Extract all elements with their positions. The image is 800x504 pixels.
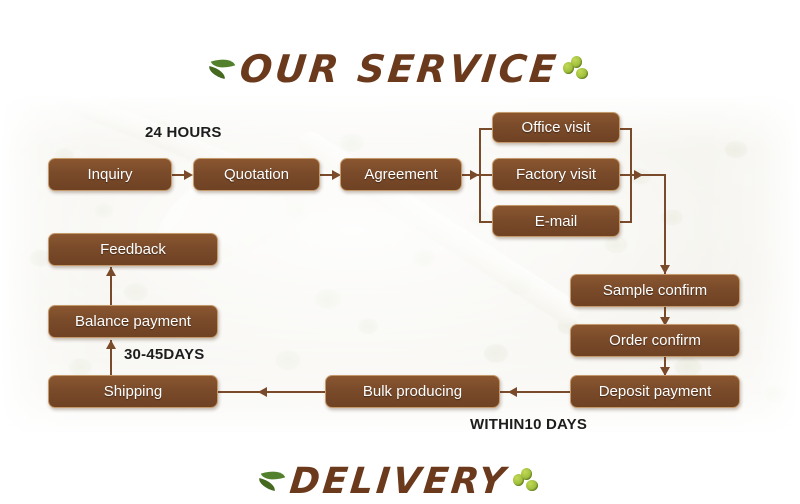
connector-branch-email — [479, 221, 493, 223]
flow-node-label: Shipping — [104, 383, 162, 400]
arrowhead-balance-payment — [106, 340, 116, 349]
leaf-icon — [204, 56, 238, 82]
connector-branch-office — [479, 128, 493, 130]
arrowhead-shipping — [258, 387, 267, 397]
flow-node-feedback[interactable]: Feedback — [48, 233, 218, 266]
flow-node-label: Factory visit — [516, 166, 596, 183]
flow-node-agreement[interactable]: Agreement — [340, 158, 462, 191]
caption-24-hours: 24 HOURS — [145, 124, 222, 141]
flow-node-sample-confirm[interactable]: Sample confirm — [570, 274, 740, 307]
page-title-text: DELIVERY — [288, 461, 510, 502]
flow-node-label: Feedback — [100, 241, 166, 258]
page-title-text: OUR SERVICE — [237, 47, 560, 91]
green-beans-icon — [562, 56, 596, 82]
connector-bulk-shipping — [218, 391, 325, 393]
flow-node-label: Balance payment — [75, 313, 191, 330]
arrowhead-agreement-branch — [470, 170, 479, 180]
flow-node-label: E-mail — [535, 213, 578, 230]
flow-node-balance-payment[interactable]: Balance payment — [48, 305, 218, 338]
arrowhead-merge — [634, 170, 643, 180]
flow-node-label: Agreement — [364, 166, 437, 183]
flow-node-label: Sample confirm — [603, 282, 707, 299]
arrowhead-sample-confirm — [660, 265, 670, 274]
flow-node-factory-visit[interactable]: Factory visit — [492, 158, 620, 191]
connector-branch-factory — [479, 174, 493, 176]
caption-30-45-days: 30-45DAYS — [124, 346, 204, 363]
flow-node-email[interactable]: E-mail — [492, 205, 620, 237]
leaf-icon — [254, 468, 288, 494]
flow-node-office-visit[interactable]: Office visit — [492, 112, 620, 143]
flow-node-shipping[interactable]: Shipping — [48, 375, 218, 408]
flow-node-bulk-producing[interactable]: Bulk producing — [325, 375, 500, 408]
flow-node-label: Order confirm — [609, 332, 701, 349]
flow-node-label: Bulk producing — [363, 383, 462, 400]
connector-merge-sample-confirm — [664, 174, 666, 274]
flow-node-label: Quotation — [224, 166, 289, 183]
green-beans-icon — [512, 468, 546, 494]
caption-within-10-days: WITHIN10 DAYS — [470, 416, 587, 433]
arrowhead-bulk-producing — [508, 387, 517, 397]
page-title-our-service: OUR SERVICE — [0, 44, 800, 91]
page-title-delivery: DELIVERY — [0, 459, 800, 502]
service-flow-infographic: OUR SERVICE DELIVERY Inquiry — [0, 0, 800, 504]
flow-node-label: Deposit payment — [599, 383, 712, 400]
flow-node-deposit-payment[interactable]: Deposit payment — [570, 375, 740, 408]
flow-node-inquiry[interactable]: Inquiry — [48, 158, 172, 191]
arrowhead-feedback — [106, 267, 116, 276]
arrowhead-inquiry-quotation — [184, 170, 193, 180]
flow-node-quotation[interactable]: Quotation — [193, 158, 320, 191]
flow-node-label: Office visit — [522, 119, 591, 136]
flow-node-label: Inquiry — [87, 166, 132, 183]
flow-node-order-confirm[interactable]: Order confirm — [570, 324, 740, 357]
